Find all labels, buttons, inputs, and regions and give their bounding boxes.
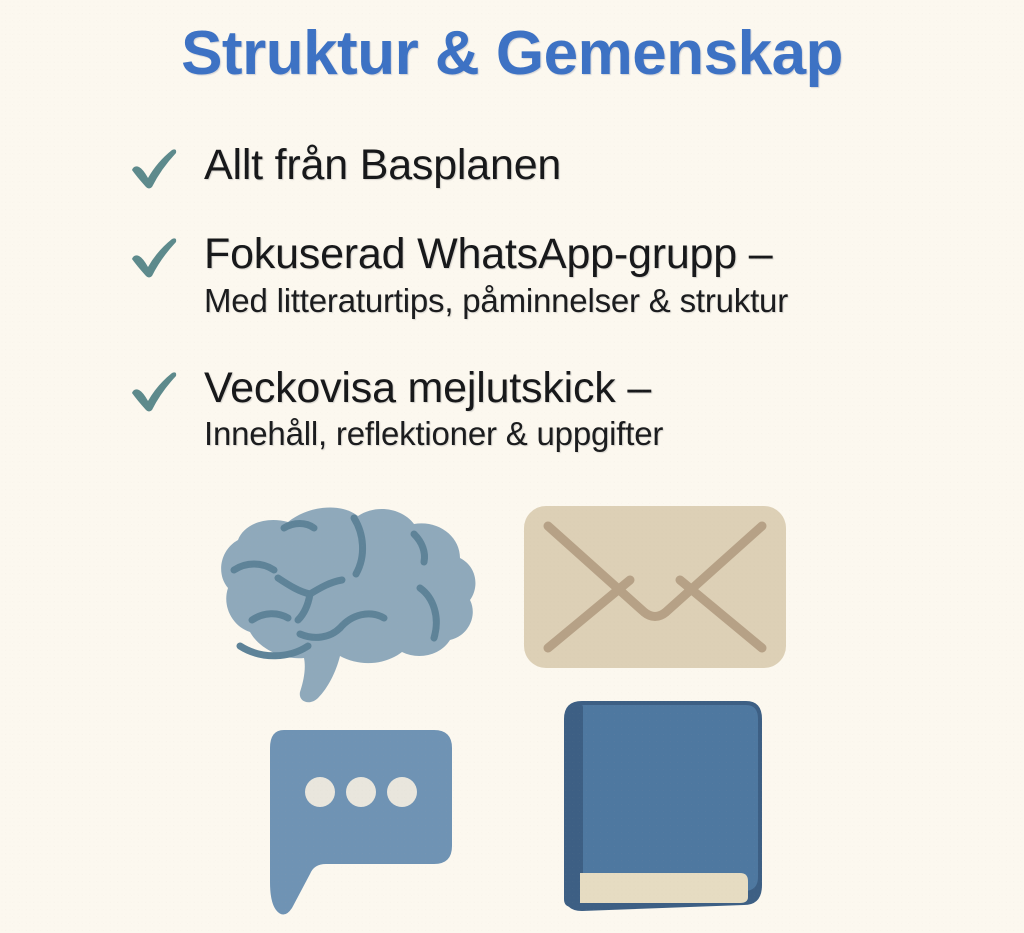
list-item-sublabel: Med litteraturtips, påminnelser & strukt… xyxy=(204,281,988,321)
checkmark-icon xyxy=(128,146,180,190)
feature-list: Allt från Basplanen Fokuserad WhatsApp-g… xyxy=(128,142,988,468)
brain-illustration xyxy=(188,500,498,705)
envelope-illustration xyxy=(520,502,790,672)
checkmark-icon xyxy=(128,235,180,279)
list-item-label: Veckovisa mejlutskick – xyxy=(204,365,988,412)
chat-bubble-illustration xyxy=(258,722,458,918)
list-item-sublabel: Innehåll, reflektioner & uppgifter xyxy=(204,414,988,454)
chat-dot xyxy=(387,777,417,807)
list-item-label: Fokuserad WhatsApp-grupp – xyxy=(204,231,988,278)
list-item: Veckovisa mejlutskick – Innehåll, reflek… xyxy=(128,365,988,455)
list-item: Allt från Basplanen xyxy=(128,142,988,189)
chat-dot xyxy=(305,777,335,807)
page-title: Struktur & Gemenskap xyxy=(0,18,1024,89)
list-item-label: Allt från Basplanen xyxy=(204,142,988,189)
slide-canvas: Struktur & Gemenskap Allt från Basplanen… xyxy=(0,0,1024,933)
book-illustration xyxy=(540,695,772,917)
chat-dot xyxy=(346,777,376,807)
checkmark-icon xyxy=(128,369,180,413)
list-item: Fokuserad WhatsApp-grupp – Med litteratu… xyxy=(128,231,988,321)
illustration-grid xyxy=(180,490,820,930)
